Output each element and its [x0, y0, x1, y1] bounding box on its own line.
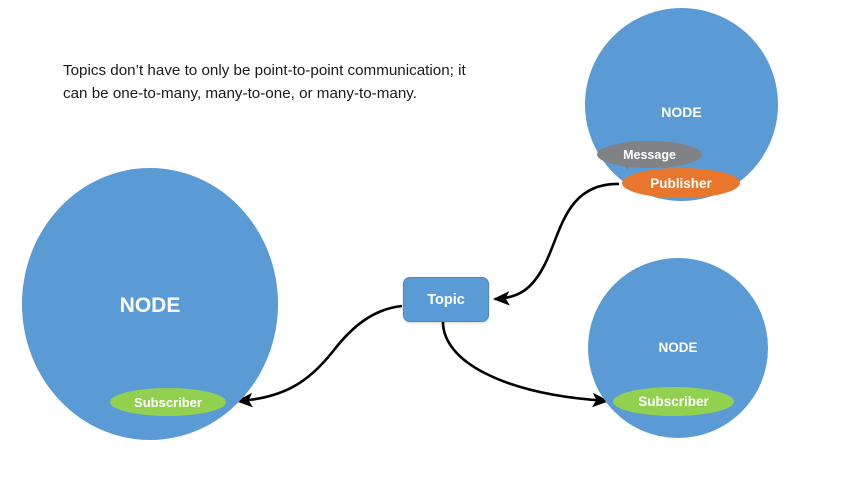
subscriber-ellipse-bottom-right[interactable]: Subscriber: [613, 387, 734, 416]
node-left-label: NODE: [22, 294, 278, 318]
diagram-caption: Topics don’t have to only be point-to-po…: [63, 60, 483, 105]
publisher-ellipse[interactable]: Publisher: [622, 168, 740, 198]
connector-topic-to-subscriber-right: [443, 322, 607, 401]
message-ellipse[interactable]: Message: [597, 141, 702, 168]
connector-publisher-to-topic: [495, 184, 619, 299]
node-bottom-right-label: NODE: [588, 340, 768, 355]
topic-box[interactable]: Topic: [403, 277, 489, 322]
node-top-right-label: NODE: [585, 104, 778, 120]
subscriber-ellipse-left[interactable]: Subscriber: [110, 388, 226, 416]
